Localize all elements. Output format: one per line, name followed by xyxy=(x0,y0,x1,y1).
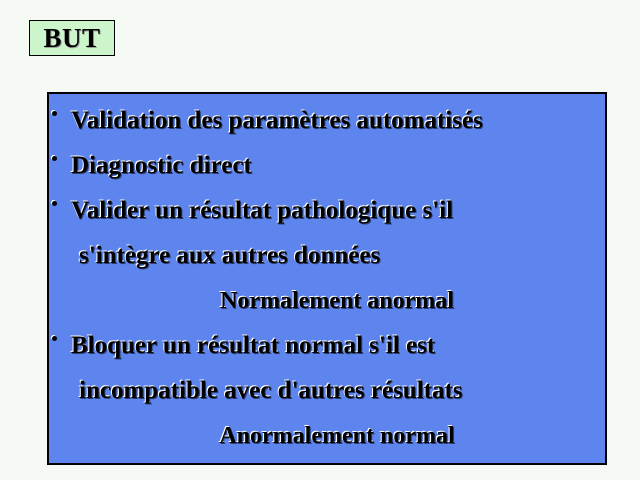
slide-canvas: BUT Validation des paramètres automatisé… xyxy=(0,0,640,480)
bullet-list-item: Diagnostic direct xyxy=(49,143,605,188)
bullet-list-item: Valider un résultat pathologique s'il xyxy=(49,188,605,233)
bullet-dot-icon xyxy=(52,336,57,341)
emphasis-label: Normalement anormal xyxy=(220,289,454,313)
continuation-line: s'intègre aux autres données xyxy=(49,233,605,278)
bullet-item-label: Valider un résultat pathologique s'il xyxy=(71,198,453,223)
bullet-dot-icon xyxy=(52,201,57,206)
slide-title-box: BUT xyxy=(29,20,115,56)
bullet-item-label: Validation des paramètres automatisés xyxy=(71,108,483,133)
bullet-dot-icon xyxy=(52,156,57,161)
emphasis-line: Normalement anormal xyxy=(49,278,605,323)
continuation-line: incompatible avec d'autres résultats xyxy=(49,368,605,413)
emphasis-label: Anormalement normal xyxy=(219,424,454,448)
emphasis-line: Anormalement normal xyxy=(49,413,605,458)
page-title: BUT xyxy=(43,25,100,52)
continuation-label: s'intègre aux autres données xyxy=(79,243,380,268)
bullet-item-label: Diagnostic direct xyxy=(71,153,252,178)
bullet-dot-icon xyxy=(52,111,57,116)
continuation-label: incompatible avec d'autres résultats xyxy=(79,378,463,403)
content-panel: Validation des paramètres automatisés Di… xyxy=(47,92,607,465)
bullet-list-item: Validation des paramètres automatisés xyxy=(49,98,605,143)
bullet-item-label: Bloquer un résultat normal s'il est xyxy=(71,333,435,358)
bullet-list-item: Bloquer un résultat normal s'il est xyxy=(49,323,605,368)
